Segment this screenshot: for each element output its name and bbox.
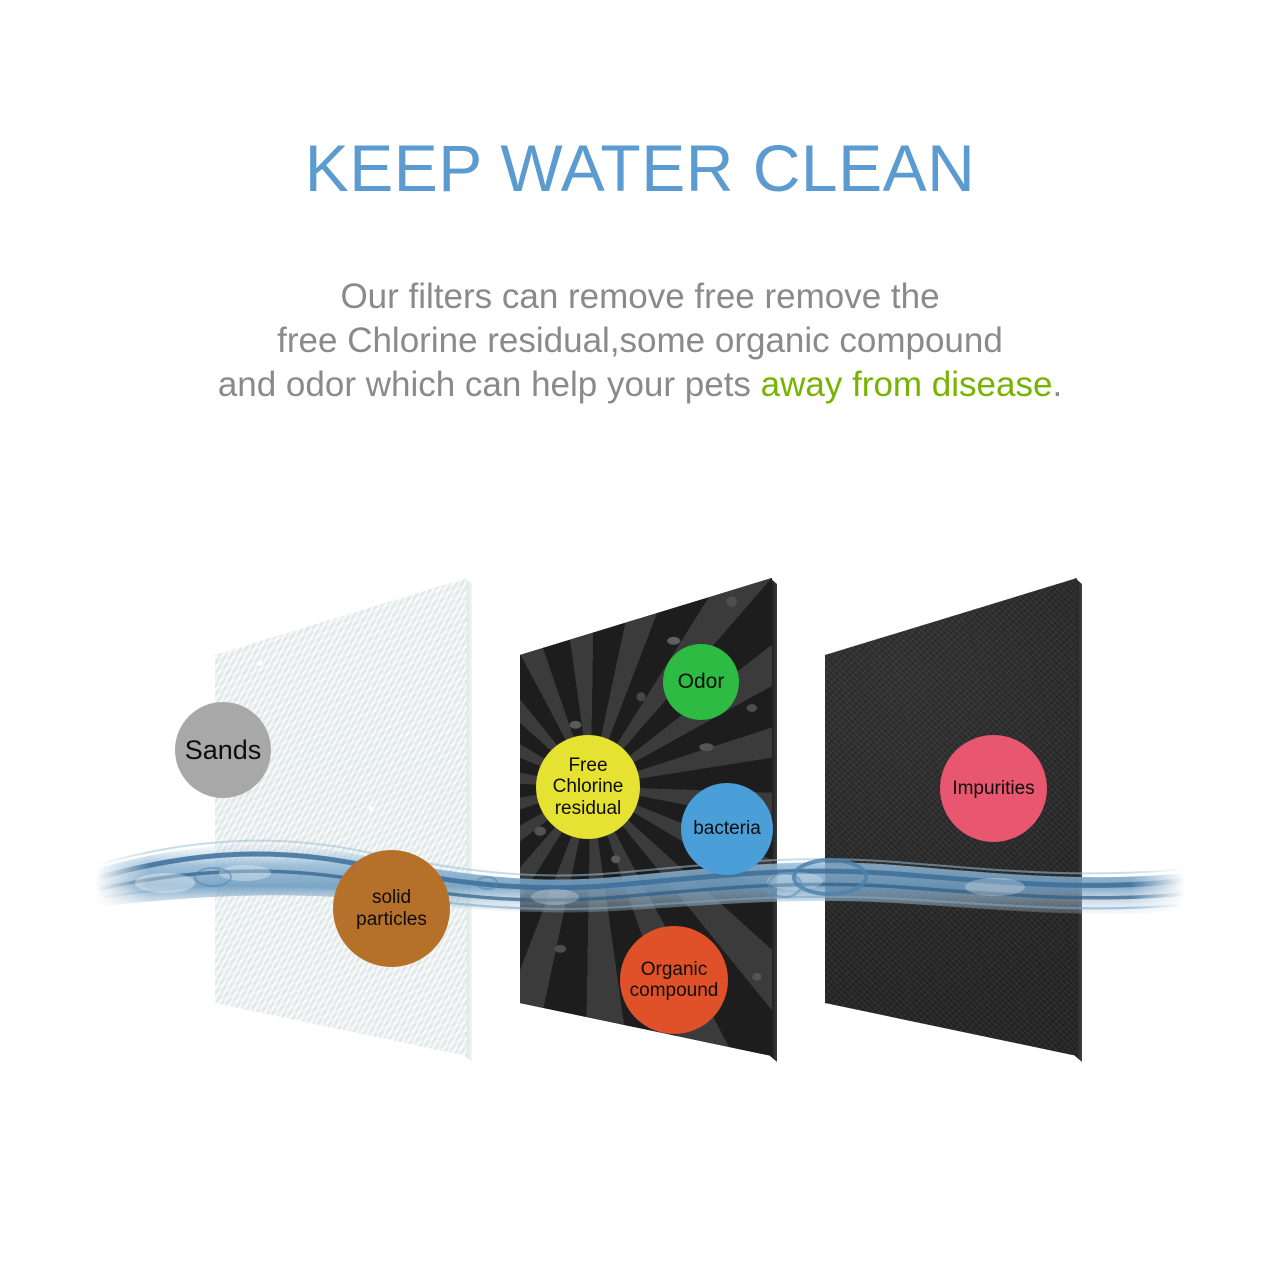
label-free-chlorine-residual: Free Chlorine residual — [536, 735, 640, 839]
filter-diagram — [0, 540, 1280, 1140]
label-odor-text: Odor — [678, 670, 725, 694]
page-title: KEEP WATER CLEAN — [0, 129, 1280, 207]
subtitle-line-3-prefix: and odor which can help your pets — [218, 365, 761, 404]
subtitle-line-1: Our filters can remove free remove the — [0, 275, 1280, 319]
panel-sediment-filter — [215, 540, 475, 1100]
label-odor: Odor — [663, 644, 739, 720]
label-solid-particles: solid particles — [333, 850, 450, 967]
label-bacteria-text: bacteria — [693, 818, 761, 839]
label-impurities: Impurities — [940, 735, 1047, 842]
poster-root: KEEP WATER CLEAN Our filters can remove … — [0, 0, 1280, 1280]
subtitle-line-3: and odor which can help your pets away f… — [0, 363, 1280, 407]
label-impurities-text: Impurities — [952, 778, 1034, 799]
label-free-chlorine-residual-text: Free Chlorine residual — [553, 755, 624, 819]
page-subtitle: Our filters can remove free remove the f… — [0, 275, 1280, 407]
label-sands: Sands — [175, 702, 271, 798]
label-bacteria: bacteria — [681, 783, 773, 875]
label-organic-compound: Organic compound — [620, 926, 728, 1034]
label-organic-compound-text: Organic compound — [630, 959, 719, 1002]
subtitle-period: . — [1052, 365, 1062, 404]
label-sands-text: Sands — [185, 735, 262, 765]
label-solid-particles-text: solid particles — [356, 887, 427, 930]
subtitle-line-2: free Chlorine residual,some organic comp… — [0, 319, 1280, 363]
subtitle-highlight: away from disease — [761, 365, 1053, 404]
panel-sediment-face — [215, 540, 467, 1100]
